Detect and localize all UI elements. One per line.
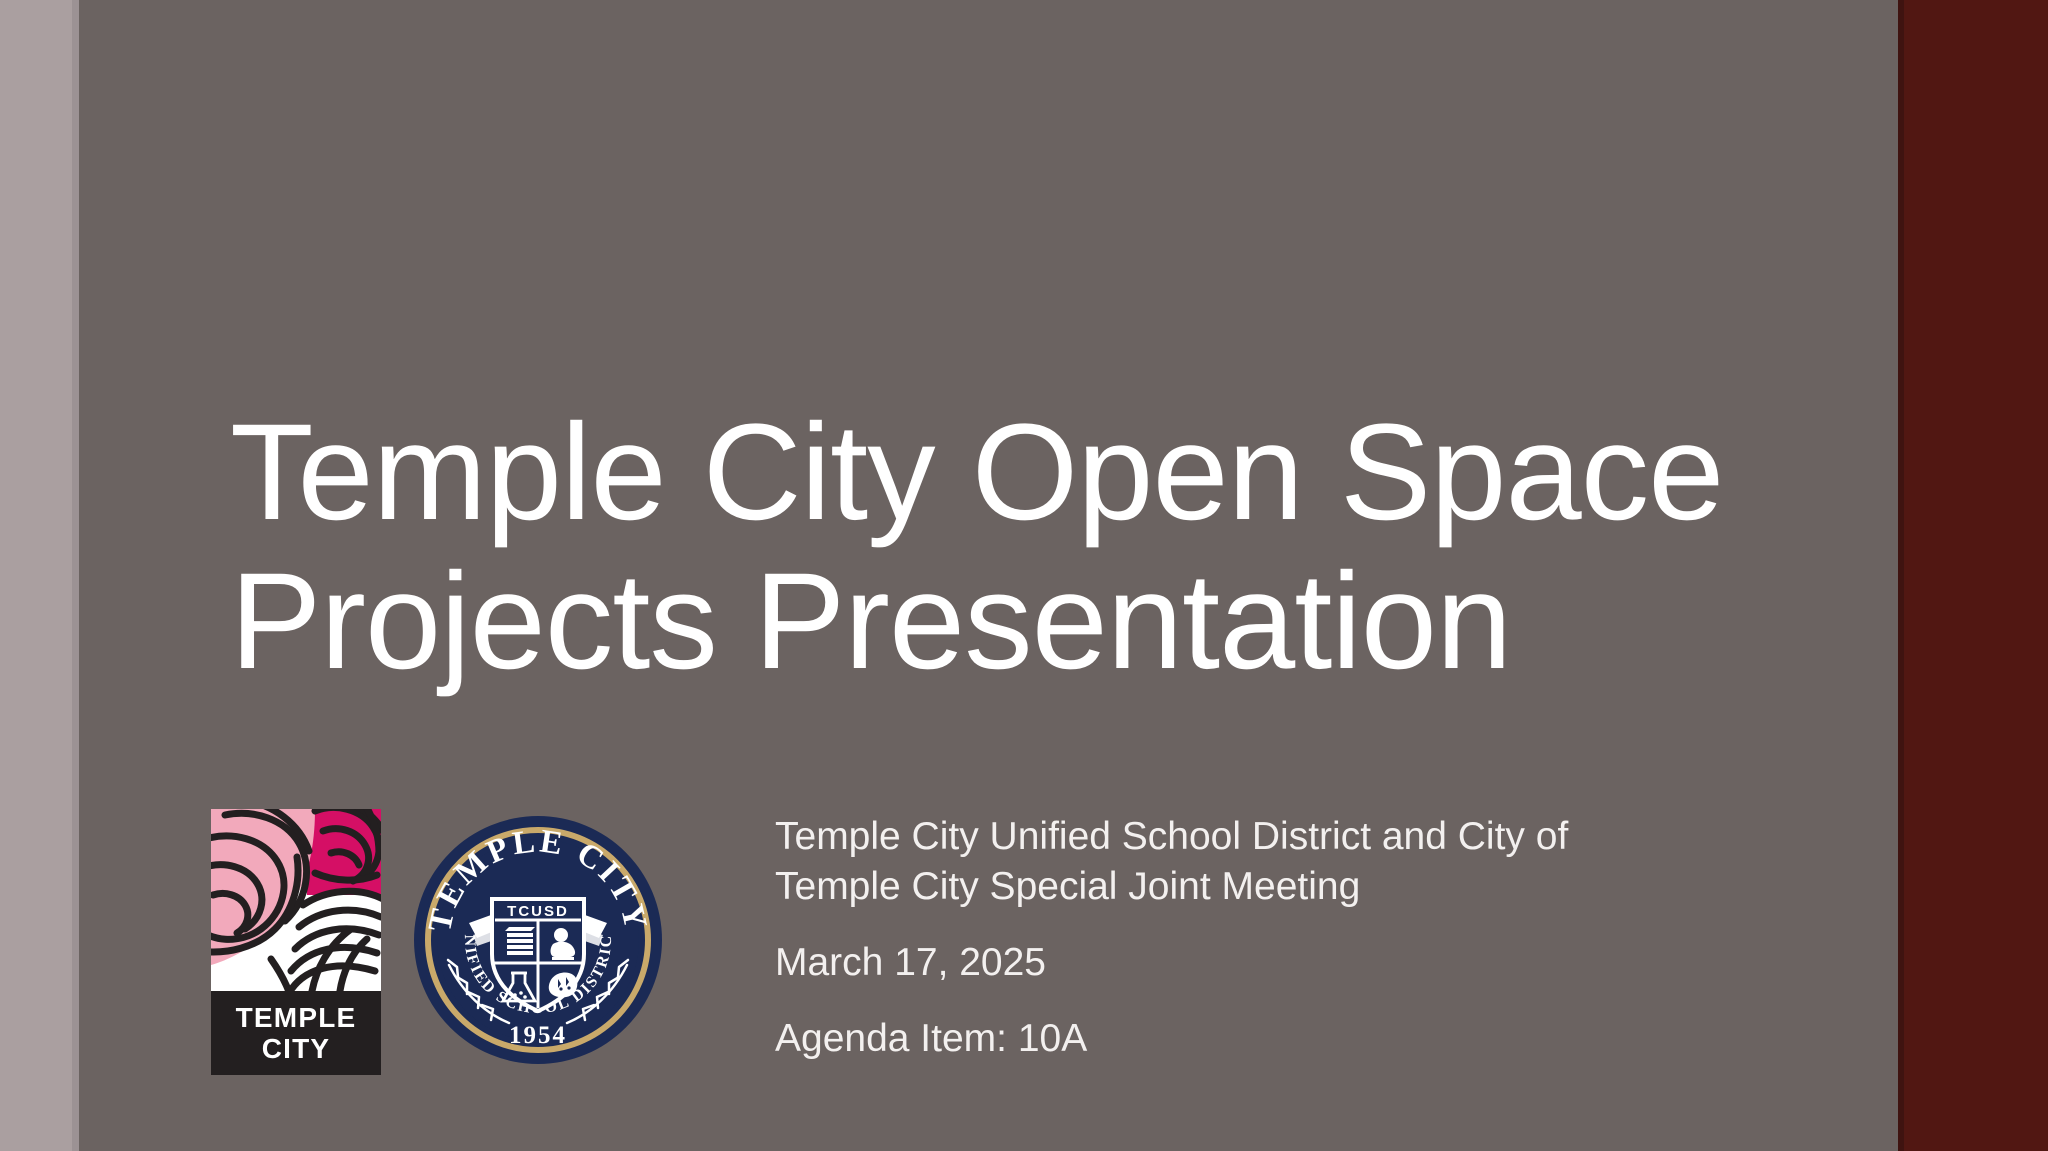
seal-year: 1954 bbox=[509, 1022, 567, 1049]
slide-subtitle: Temple City Unified School District and … bbox=[775, 812, 1755, 1064]
subtitle-agenda-item: Agenda Item: 10A bbox=[775, 1014, 1755, 1064]
temple-city-logo: TEMPLE CITY bbox=[211, 809, 381, 1075]
temple-city-wordmark: TEMPLE CITY bbox=[211, 991, 381, 1075]
rose-graphic-icon bbox=[211, 809, 381, 991]
presentation-slide: Temple City Open Space Projects Presenta… bbox=[0, 0, 2048, 1151]
subtitle-organization: Temple City Unified School District and … bbox=[775, 812, 1755, 912]
tcusd-seal-logo: TEMPLE CITY UNIFIED SCHOOL DISTRICT bbox=[413, 815, 663, 1065]
logo-row: TEMPLE CITY TEMPLE CITY bbox=[211, 809, 663, 1075]
wordmark-line-2: CITY bbox=[262, 1033, 331, 1064]
wordmark-line-1: TEMPLE bbox=[236, 1002, 357, 1033]
right-accent-bar bbox=[1904, 0, 2048, 1151]
subtitle-date: March 17, 2025 bbox=[775, 938, 1755, 988]
seal-monogram: TCUSD bbox=[507, 903, 569, 920]
left-accent-bar bbox=[0, 0, 79, 1151]
left-accent-bar-edge bbox=[72, 0, 79, 1151]
slide-title: Temple City Open Space Projects Presenta… bbox=[230, 398, 1760, 697]
